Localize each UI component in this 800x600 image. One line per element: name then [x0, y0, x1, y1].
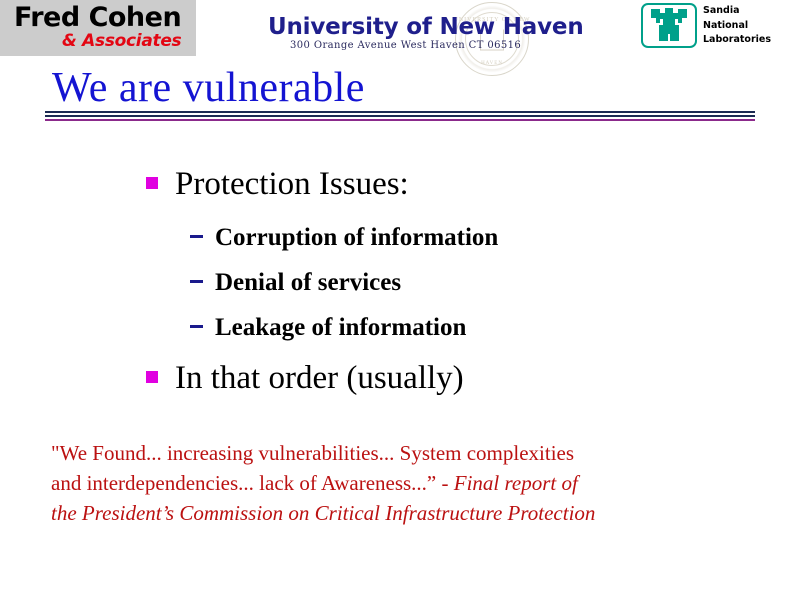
- square-bullet-icon: [146, 371, 158, 383]
- sub-bullet-item-denial: Denial of services: [190, 269, 401, 297]
- sub-bullet-label: Corruption of information: [215, 224, 498, 251]
- bullet-item-in-that-order: In that order (usually): [146, 360, 464, 397]
- sub-bullet-item-leakage: Leakage of information: [190, 314, 466, 342]
- slide-canvas: Fred Cohen & Associates UNIVERSITY OF NE…: [0, 0, 800, 600]
- bullet-label: Protection Issues:: [175, 166, 409, 202]
- dash-bullet-icon: [190, 235, 203, 238]
- bullet-item-protection-issues: Protection Issues:: [146, 166, 409, 203]
- dash-bullet-icon: [190, 325, 203, 328]
- dash-bullet-icon: [190, 280, 203, 283]
- sub-bullet-item-corruption: Corruption of information: [190, 224, 498, 252]
- bullet-label: In that order (usually): [175, 360, 464, 396]
- quote-line-1: "We Found... increasing vulnerabilities.…: [51, 438, 771, 468]
- quotation-block: "We Found... increasing vulnerabilities.…: [51, 438, 771, 528]
- square-bullet-icon: [146, 177, 158, 189]
- sub-bullet-label: Denial of services: [215, 269, 401, 296]
- quote-line-2-plain: and interdependencies... lack of Awarene…: [51, 471, 454, 495]
- sub-bullet-label: Leakage of information: [215, 314, 466, 341]
- quote-line-2: and interdependencies... lack of Awarene…: [51, 468, 771, 498]
- quote-source-part-2: the President’s Commission on Critical I…: [51, 498, 771, 528]
- quote-source-part-1: Final report of: [454, 471, 578, 495]
